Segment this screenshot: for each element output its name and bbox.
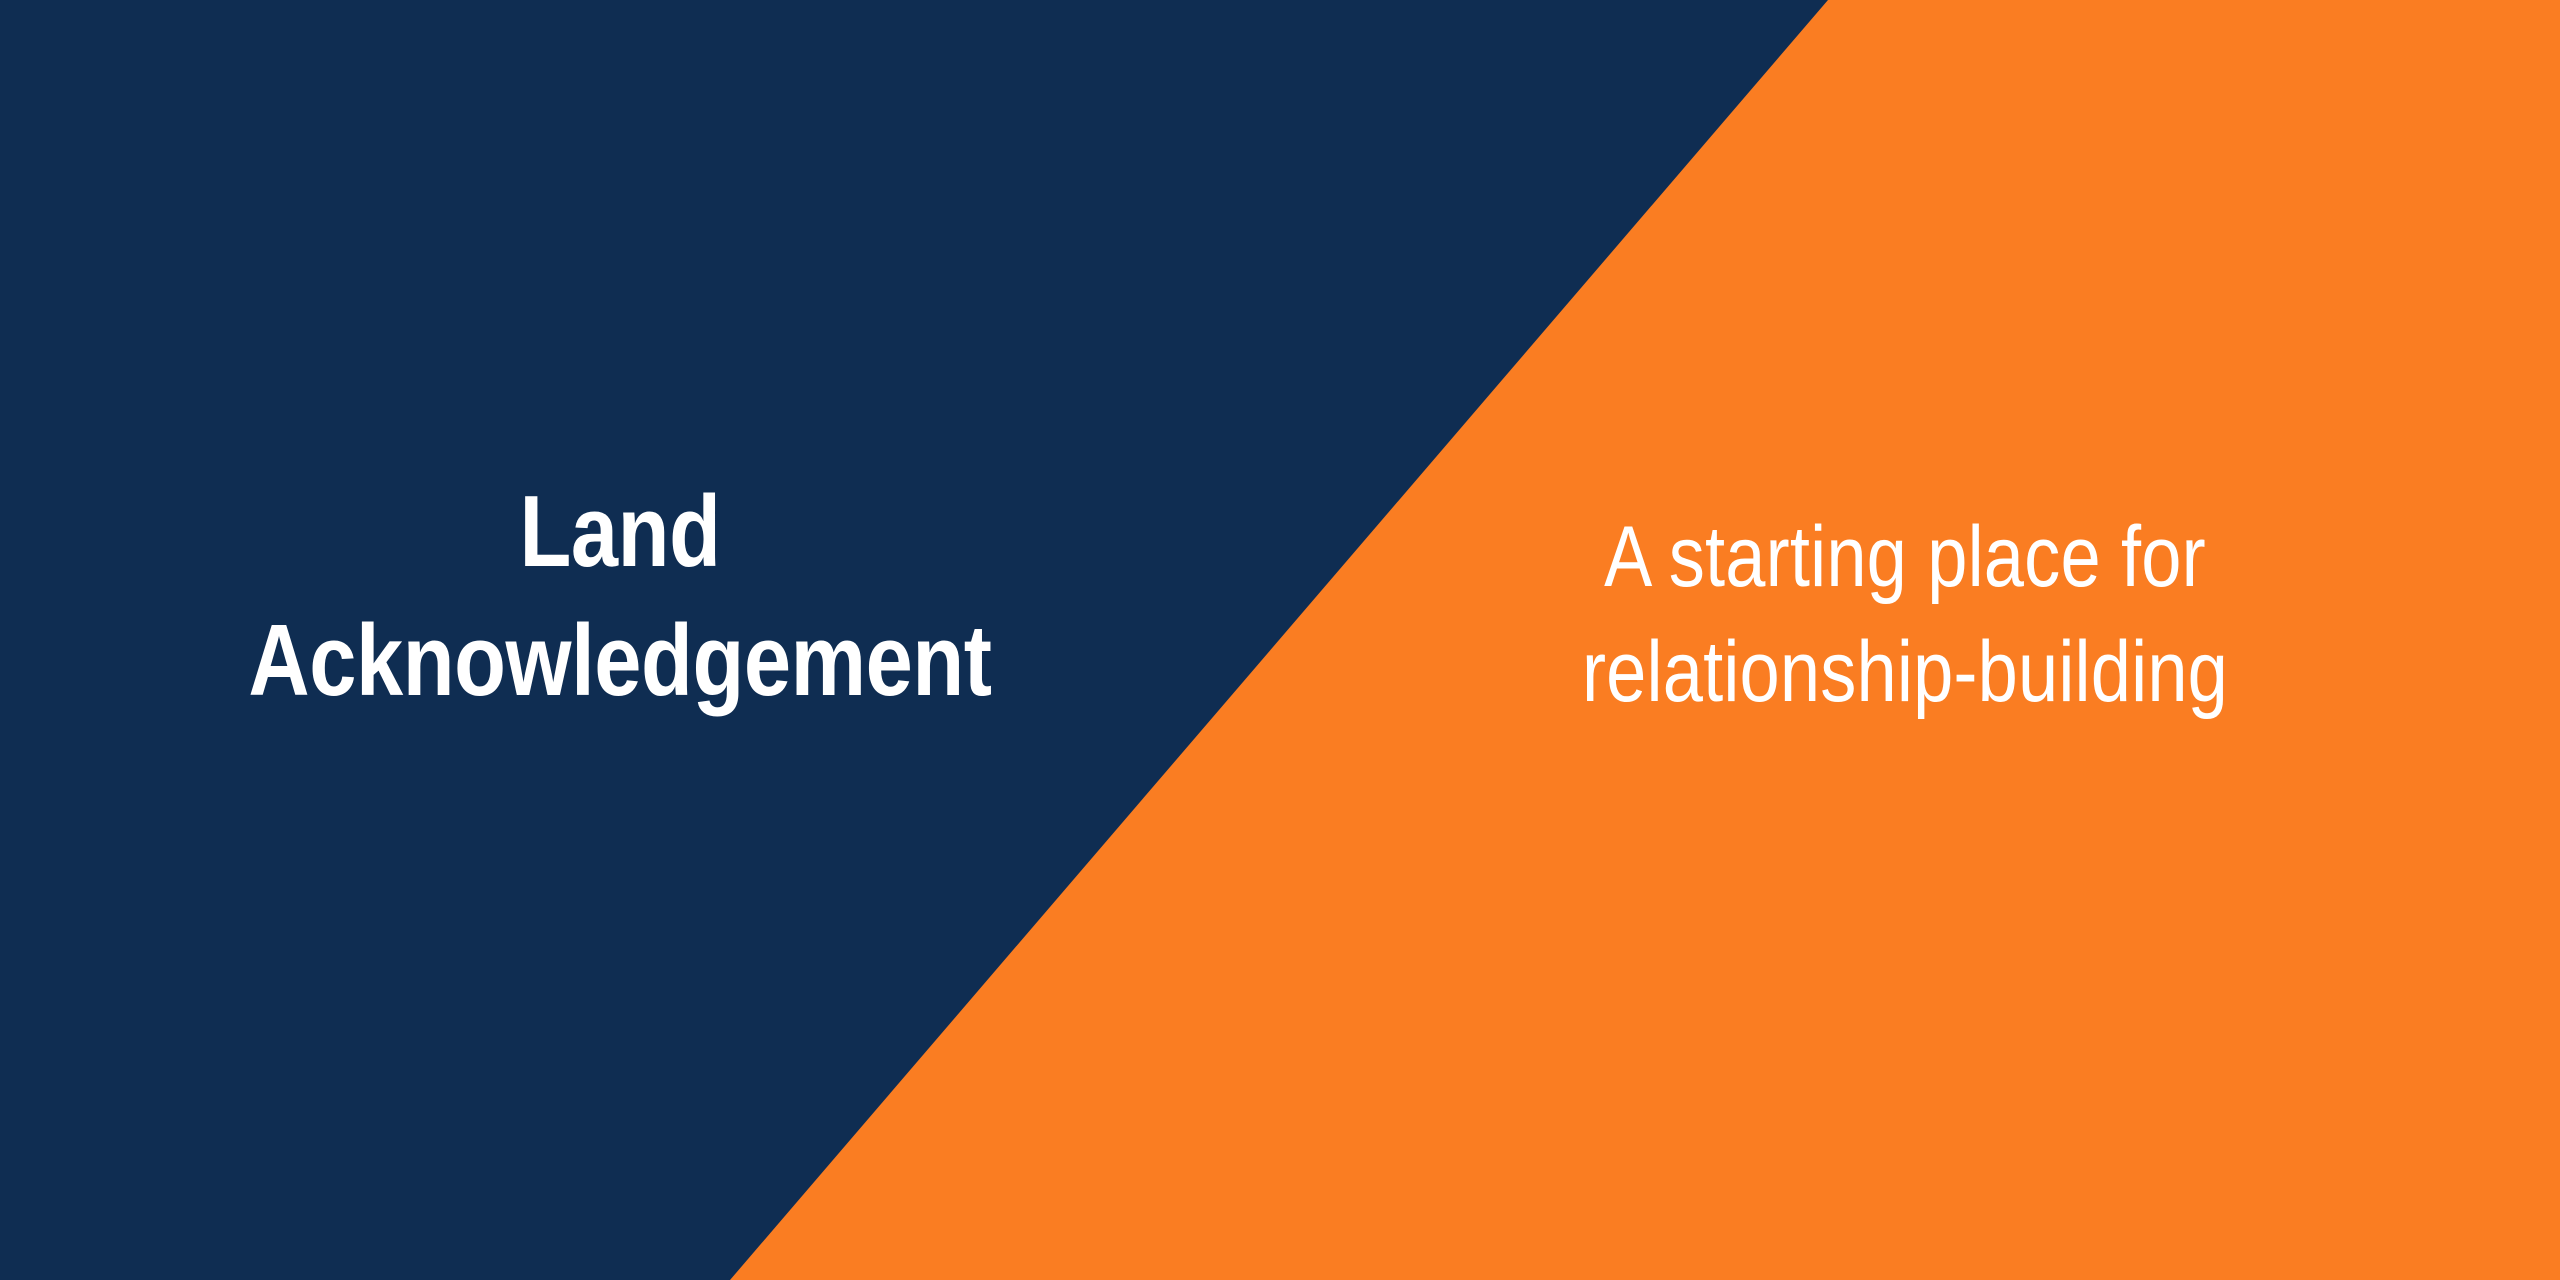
page-subtitle: A starting place for relationship-buildi…: [1485, 500, 2325, 730]
slide-canvas: Land Acknowledgement A starting place fo…: [0, 0, 2560, 1280]
page-title: Land Acknowledgement: [200, 468, 1040, 727]
